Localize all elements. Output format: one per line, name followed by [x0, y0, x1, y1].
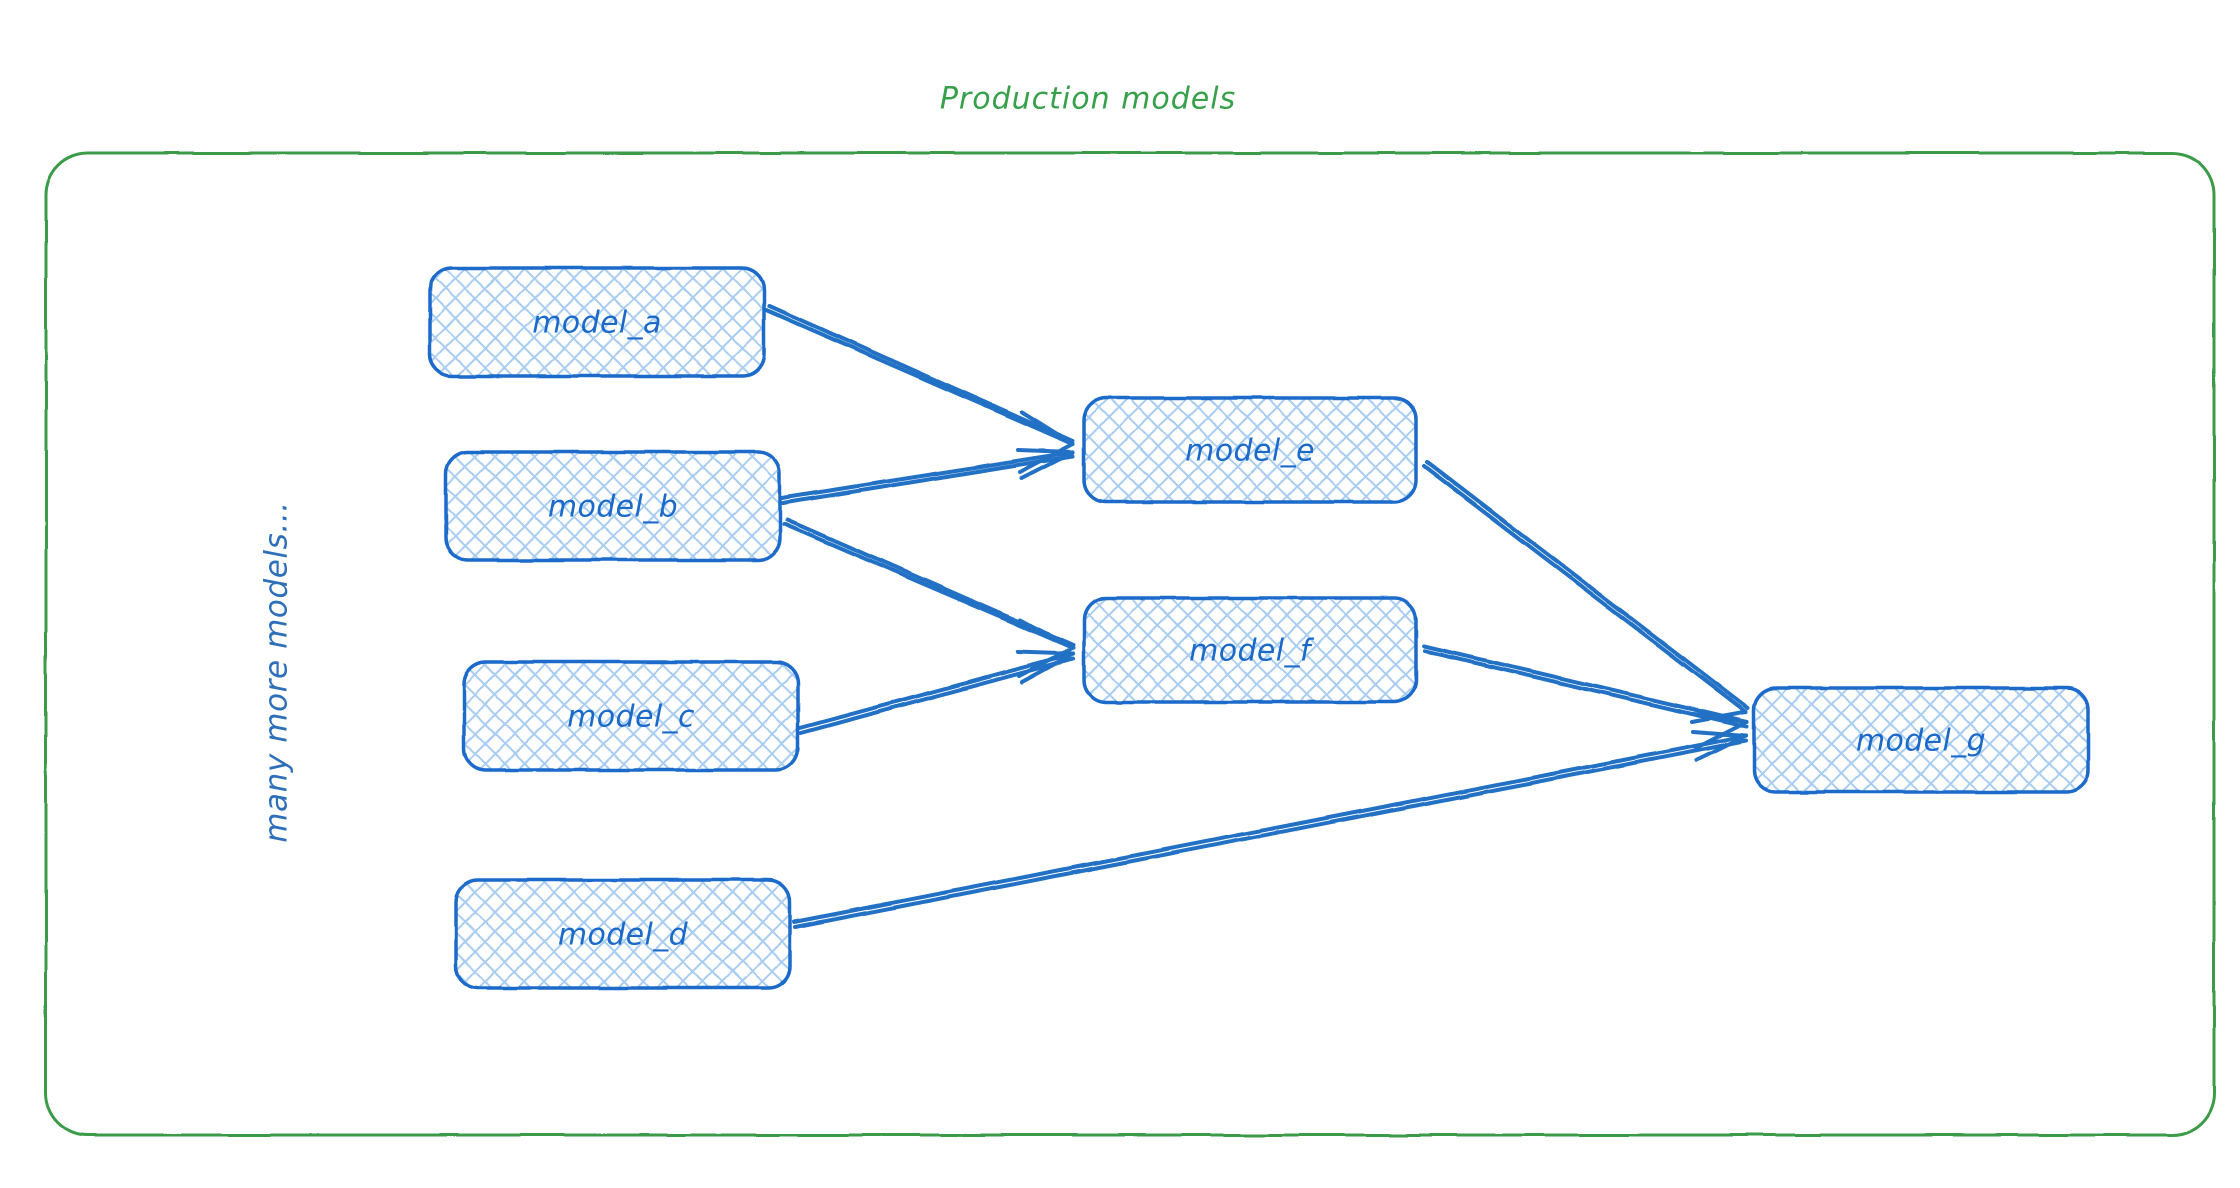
side-note-group: many more models... — [259, 501, 295, 843]
node-model_g[interactable]: model_g — [1754, 688, 2088, 792]
node-model_a-label: model_a — [532, 306, 662, 341]
edge-model_c-to-model_f — [800, 652, 1073, 733]
nodes-layer: model_a model_b model_c model_d model_e — [430, 268, 2088, 988]
node-model_f-label: model_f — [1189, 634, 1315, 669]
node-model_d-label: model_d — [558, 918, 689, 953]
node-model_e[interactable]: model_e — [1084, 398, 1416, 502]
diagram-svg: Production models — [0, 0, 2240, 1188]
edge-model_d-to-model_g — [794, 732, 1746, 927]
node-model_c[interactable]: model_c — [464, 662, 798, 770]
edge-model_a-to-model_e — [766, 306, 1073, 472]
node-model_e-label: model_e — [1185, 434, 1315, 469]
node-model_a[interactable]: model_a — [430, 268, 764, 376]
node-model_c-label: model_c — [567, 700, 695, 735]
node-model_d[interactable]: model_d — [456, 880, 790, 988]
node-model_b-label: model_b — [548, 490, 678, 525]
edge-model_b-to-model_e — [782, 450, 1073, 503]
node-model_f[interactable]: model_f — [1084, 598, 1416, 702]
node-model_b[interactable]: model_b — [446, 452, 780, 560]
frame-title-label: Production models — [940, 82, 1236, 117]
side-note-label: many more models... — [259, 501, 295, 843]
diagram-canvas: Production models — [0, 0, 2240, 1188]
node-model_g-label: model_g — [1856, 724, 1986, 759]
